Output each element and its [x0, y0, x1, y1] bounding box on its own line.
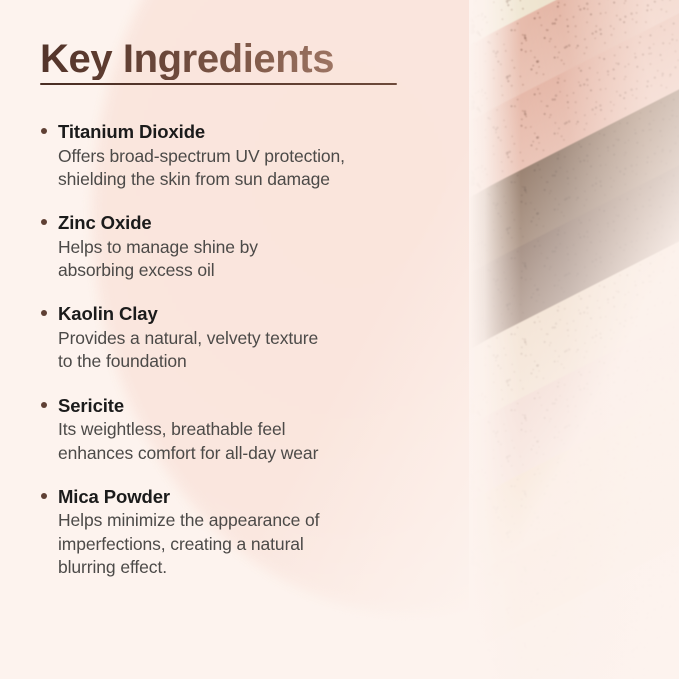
page-title-block: Key Ingredients — [40, 38, 430, 85]
ingredient-description: Offers broad-spectrum UV protection, shi… — [58, 145, 440, 192]
ingredient-item: Mica PowderHelps minimize the appearance… — [40, 485, 440, 579]
ingredient-name: Mica Powder — [58, 485, 440, 509]
ingredient-name: Zinc Oxide — [58, 211, 440, 235]
title-underline — [40, 83, 397, 85]
bullet-icon — [41, 310, 47, 316]
bullet-icon — [41, 219, 47, 225]
ingredient-description: Helps minimize the appearance of imperfe… — [58, 509, 440, 579]
ingredient-item: Kaolin ClayProvides a natural, velvety t… — [40, 302, 440, 373]
page-title: Key Ingredients — [40, 38, 430, 80]
bullet-icon — [41, 402, 47, 408]
ingredient-item: Zinc OxideHelps to manage shine by absor… — [40, 211, 440, 282]
ingredient-name: Kaolin Clay — [58, 302, 440, 326]
text-content: Key Ingredients Titanium DioxideOffers b… — [0, 0, 470, 679]
ingredients-infographic: Key Ingredients Titanium DioxideOffers b… — [0, 0, 679, 679]
ingredient-name: Titanium Dioxide — [58, 120, 440, 144]
ingredient-list: Titanium DioxideOffers broad-spectrum UV… — [40, 120, 440, 579]
powder-swatch-strip — [469, 0, 679, 679]
ingredient-item: Titanium DioxideOffers broad-spectrum UV… — [40, 120, 440, 191]
ingredient-item: SericiteIts weightless, breathable feel … — [40, 394, 440, 465]
ingredient-description: Provides a natural, velvety texture to t… — [58, 327, 440, 374]
ingredient-description: Its weightless, breathable feel enhances… — [58, 418, 440, 465]
ingredient-description: Helps to manage shine by absorbing exces… — [58, 236, 440, 283]
bullet-icon — [41, 493, 47, 499]
bullet-icon — [41, 128, 47, 134]
ingredient-name: Sericite — [58, 394, 440, 418]
